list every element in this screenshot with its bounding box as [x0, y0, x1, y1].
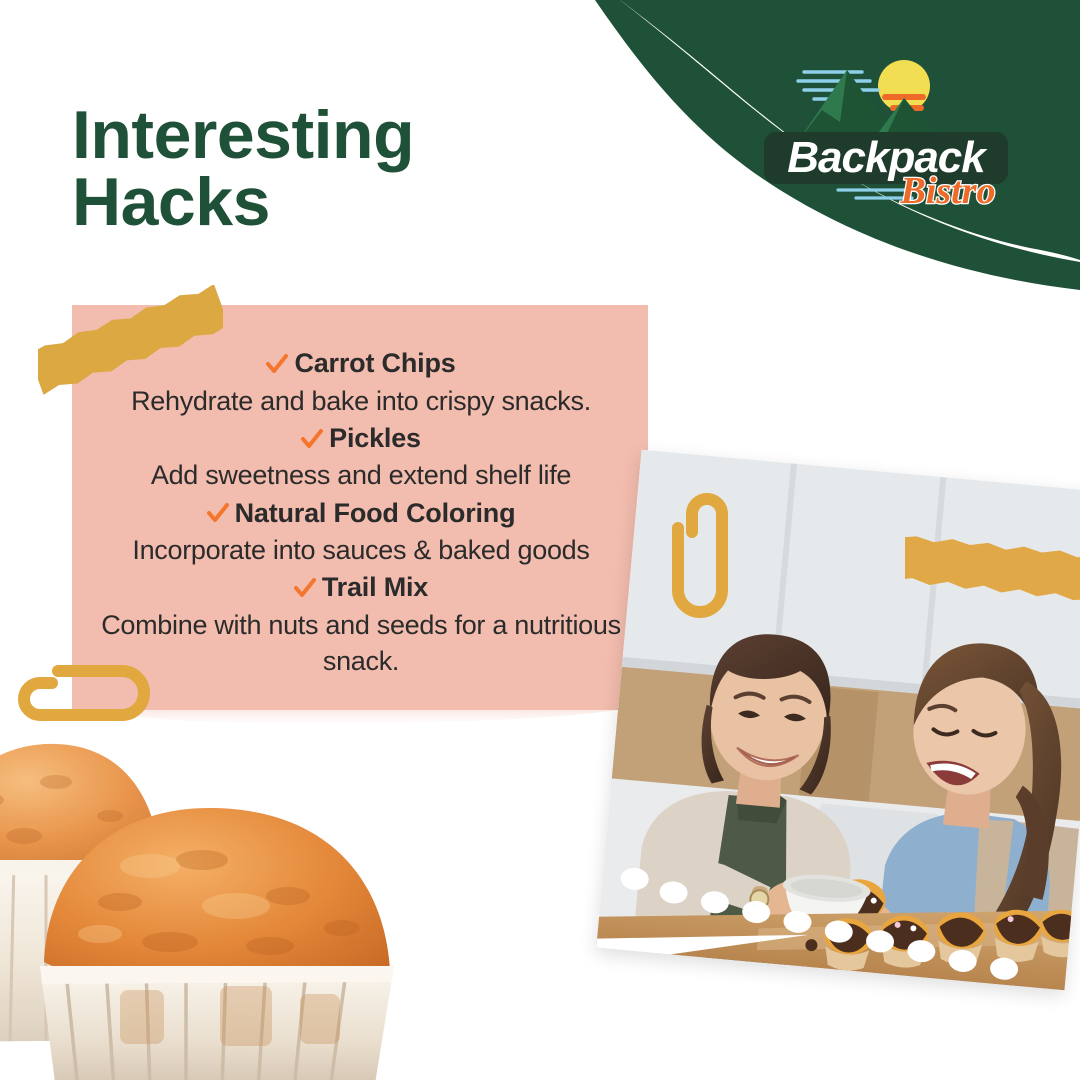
- list-item-title: Natural Food Coloring: [235, 496, 516, 532]
- list-item-title: Carrot Chips: [294, 346, 455, 382]
- check-icon: [294, 577, 316, 599]
- list-item-title-row: Carrot Chips: [96, 346, 626, 382]
- list-item-desc: Rehydrate and bake into crispy snacks.: [96, 383, 626, 419]
- check-icon: [266, 353, 288, 375]
- washi-tape-photo: [905, 536, 1080, 614]
- list-item-desc: Incorporate into sauces & baked goods: [96, 532, 626, 568]
- list-item-desc: Combine with nuts and seeds for a nutrit…: [96, 607, 626, 679]
- list-item-title-row: Trail Mix: [96, 570, 626, 606]
- list-item-title-row: Natural Food Coloring: [96, 496, 626, 532]
- poster-canvas: Backpack Bistro Interesting Hacks: [0, 0, 1080, 1080]
- tips-list: Carrot Chips Rehydrate and bake into cri…: [96, 346, 626, 681]
- check-icon: [301, 428, 323, 450]
- list-item-title-row: Pickles: [96, 421, 626, 457]
- carrot-muffins-image: [0, 690, 440, 1080]
- list-item: Trail Mix Combine with nuts and seeds fo…: [96, 570, 626, 679]
- page-title: Interesting Hacks: [72, 102, 592, 237]
- list-item-title: Trail Mix: [322, 570, 428, 606]
- check-icon: [207, 502, 229, 524]
- list-item: Natural Food Coloring Incorporate into s…: [96, 496, 626, 569]
- list-item-desc: Add sweetness and extend shelf life: [96, 457, 626, 493]
- brand-logo: Backpack Bistro: [752, 48, 1020, 208]
- paperclip-photo: [662, 492, 736, 620]
- logo-wordmark-bistro: Bistro: [899, 170, 995, 208]
- list-item: Carrot Chips Rehydrate and bake into cri…: [96, 346, 626, 419]
- list-item-title: Pickles: [329, 421, 421, 457]
- list-item: Pickles Add sweetness and extend shelf l…: [96, 421, 626, 494]
